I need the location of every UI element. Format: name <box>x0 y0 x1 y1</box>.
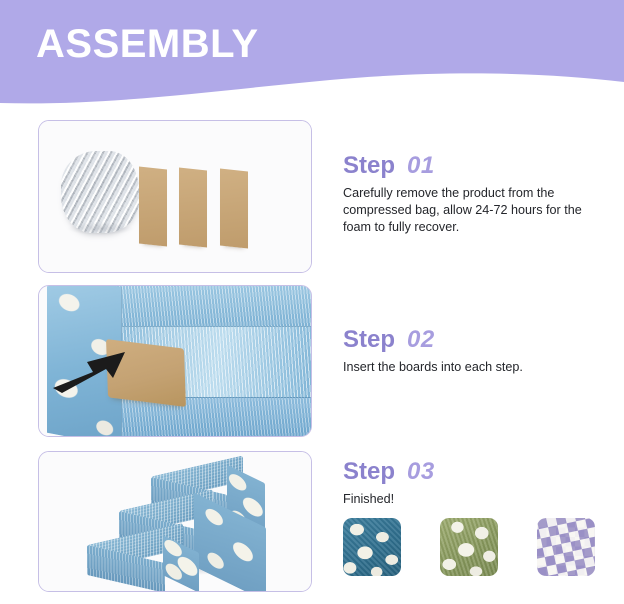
step-01-number: 01 <box>407 152 435 179</box>
step-03-label: Step <box>343 458 395 485</box>
step-photo-card-1 <box>38 120 312 273</box>
page-header: ASSEMBLY <box>0 0 624 112</box>
fabric-swatch-row <box>343 518 608 578</box>
purple-checkered-fabric-swatch[interactable] <box>537 518 595 576</box>
step-01-description: Carefully remove the product from the co… <box>343 185 608 236</box>
step-02-photo <box>39 286 311 436</box>
step-03-number: 03 <box>407 458 435 485</box>
step-text-block-1: Step01 Carefully remove the product from… <box>343 152 608 236</box>
cardboard-board-2 <box>179 168 207 248</box>
step-text-block-2: Step02 Insert the boards into each step. <box>343 326 608 376</box>
finished-pet-stairs-image <box>39 452 311 591</box>
step-photo-card-2 <box>38 285 312 437</box>
step-03-description: Finished! <box>343 491 608 508</box>
page-title: ASSEMBLY <box>36 22 259 66</box>
insert-direction-arrow-icon <box>53 348 133 394</box>
step-03-heading: Step03 <box>343 458 608 486</box>
step-text-block-3: Step03 Finished! <box>343 458 608 508</box>
step-02-number: 02 <box>407 326 435 353</box>
step-01-label: Step <box>343 152 395 179</box>
step-01-heading: Step01 <box>343 152 608 180</box>
green-flower-fabric-swatch[interactable] <box>440 518 498 576</box>
step-photo-card-3 <box>38 451 312 592</box>
compressed-bag-image <box>61 151 139 233</box>
step-01-photo <box>39 121 311 272</box>
step-02-heading: Step02 <box>343 326 608 354</box>
step-03-photo <box>39 452 311 591</box>
cardboard-board-3 <box>220 169 248 249</box>
cardboard-board-1 <box>139 167 167 247</box>
step-02-label: Step <box>343 326 395 353</box>
step-02-description: Insert the boards into each step. <box>343 359 608 376</box>
blue-flower-fabric-swatch[interactable] <box>343 518 401 576</box>
